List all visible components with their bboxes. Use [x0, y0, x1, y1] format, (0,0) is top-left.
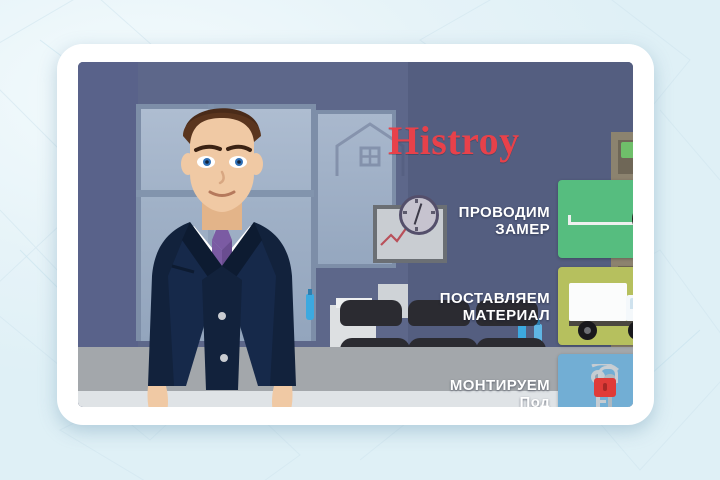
padlock-keyhole: [603, 383, 607, 391]
tablet-screen[interactable]: Histroy ПРОВОДИМ ЗАМЕР ПОС: [78, 62, 633, 407]
page-title: Histroy: [388, 117, 618, 164]
step-2-label: ПОСТАВЛЯЕМ МАТЕРИАЛ: [368, 290, 550, 324]
shelf-item-green: [621, 142, 633, 158]
step-3-label: МОНТИРУЕМ Под: [374, 377, 550, 407]
step-1-label-line2: ЗАМЕР: [378, 221, 550, 238]
businessman-character: [124, 90, 314, 407]
step-2-card[interactable]: [558, 267, 633, 345]
step-1-label: ПРОВОДИМ ЗАМЕР: [378, 204, 550, 238]
step-3-card[interactable]: [558, 354, 633, 407]
page-root: Histroy ПРОВОДИМ ЗАМЕР ПОС: [0, 0, 720, 480]
tablet-device: Histroy ПРОВОДИМ ЗАМЕР ПОС: [57, 44, 654, 425]
step-2-label-line2: МАТЕРИАЛ: [368, 307, 550, 324]
step-2-label-line1: ПОСТАВЛЯЕМ: [440, 290, 550, 307]
step-1-card[interactable]: [558, 180, 633, 258]
step-3-label-line2: Под: [374, 394, 550, 407]
step-1-label-line1: ПРОВОДИМ: [459, 204, 550, 221]
step-3-label-line1: МОНТИРУЕМ: [450, 377, 550, 394]
